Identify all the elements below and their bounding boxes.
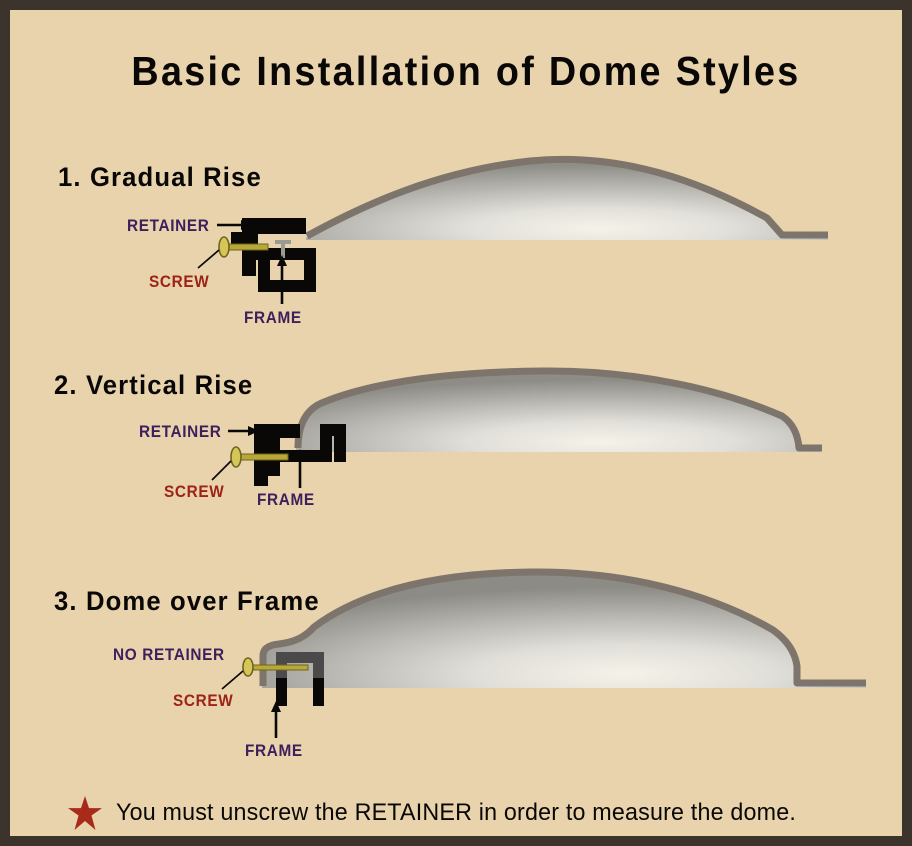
footer-note: You must unscrew the RETAINER in order t… [68,796,832,830]
section-3-drawing [10,10,912,846]
no-retainer-label-3: NO RETAINER [113,646,225,665]
star-icon [68,796,102,830]
diagram-page: Basic Installation of Dome Styles 1. Gra… [0,0,912,846]
screw-leader-3 [222,671,243,689]
dome-shape-3 [262,571,866,688]
frame-arrow-3 [271,701,281,738]
footer-note-text: You must unscrew the RETAINER in order t… [116,799,796,827]
frame-label-3: FRAME [245,742,303,761]
screw-label-3: SCREW [173,692,233,711]
